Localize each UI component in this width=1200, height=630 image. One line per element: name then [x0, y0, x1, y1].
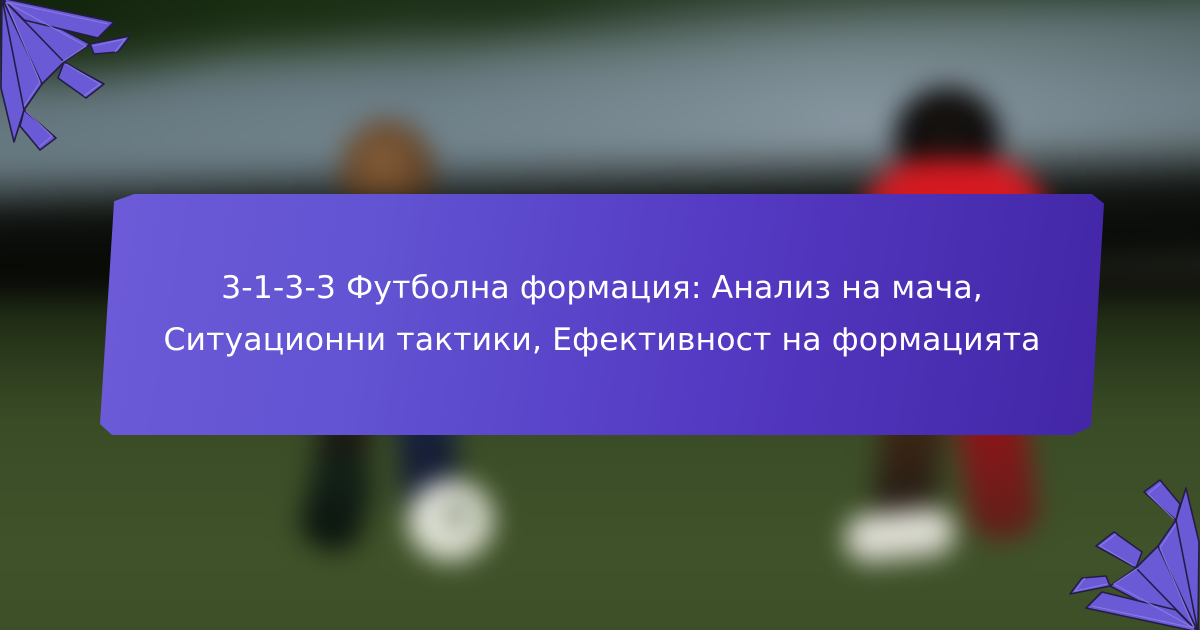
page-title-line-1: 3-1-3-3 Футболна формация: Анализ на мач…	[221, 266, 983, 312]
poster-canvas: 3-1-3-3 Футболна формация: Анализ на мач…	[0, 0, 1200, 630]
soccer-ball-panel	[440, 500, 470, 528]
page-title-line-2: Ситуационни тактики, Ефективност на форм…	[163, 318, 1040, 364]
title-banner: 3-1-3-3 Футболна формация: Анализ на мач…	[100, 194, 1104, 435]
title-banner-content: 3-1-3-3 Футболна формация: Анализ на мач…	[100, 194, 1104, 435]
